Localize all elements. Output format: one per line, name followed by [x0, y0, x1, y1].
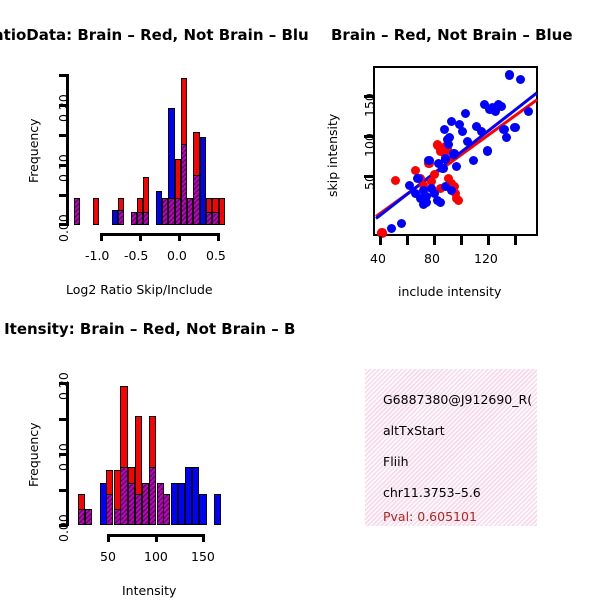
scatter-xtick-40 [379, 236, 382, 245]
hist-ratio-ytick-005 [59, 194, 67, 197]
scatter-point [461, 109, 470, 118]
scatter-point [458, 127, 467, 136]
hist-ratio-ytick-015 [59, 134, 67, 137]
hist-intensity-xlabel-150: 150 [191, 549, 215, 564]
scatter-point [452, 162, 461, 171]
hist-ratio-ytick-top [59, 74, 67, 77]
hist-intensity-title: ne Itensity: Brain – Red, Not Brain – B [0, 320, 295, 338]
hist-bar [192, 467, 199, 526]
annotation-line-gene: Fliih [383, 454, 409, 469]
scatter-plot-area [373, 66, 538, 236]
hist-bar-overlap [149, 467, 156, 526]
scatter-point [505, 70, 514, 79]
scatter-point [449, 149, 458, 158]
hist-bar-overlap [118, 210, 124, 225]
hist-bar-overlap [78, 509, 85, 525]
hist-ratio-xaxis [100, 233, 220, 236]
hist-ratio-ylabel-020: 0.20 [56, 94, 71, 122]
scatter-point [436, 198, 445, 207]
hist-bar [93, 198, 99, 225]
hist-intensity-xtick-150 [202, 534, 205, 542]
hist-bar [219, 198, 225, 225]
hist-ratio-xtick-0.5 [217, 233, 220, 241]
scatter-xaxis-title: include intensity [398, 284, 501, 299]
annotation-textbox: G6887380@J912690_R( altTxStart Fliih chr… [365, 369, 537, 526]
hist-bar-overlap [135, 494, 142, 525]
hist-intensity-ylabel-000: 0.00 [56, 514, 71, 542]
scatter-point [454, 196, 463, 205]
scatter-yaxis-title: skip intensity [325, 114, 340, 197]
hist-intensity-xtick-50 [107, 534, 110, 542]
scatter-point [397, 219, 406, 228]
hist-ratio-xlabel-0.0: 0.0 [167, 248, 187, 263]
scatter-xlabel-80: 80 [424, 251, 440, 266]
hist-ratio-title: RatioData: Brain – Red, Not Brain – Blu [0, 26, 309, 44]
hist-bar [199, 494, 206, 525]
scatter-point [447, 186, 456, 195]
annotation-line-id: G6887380@J912690_R( [383, 392, 532, 407]
hist-bar-overlap [106, 494, 113, 525]
hist-ratio-xtick--1.0 [100, 233, 103, 241]
scatter-xlabel-120: 120 [474, 251, 498, 266]
hist-ratio-xaxis-title: Log2 Ratio Skip/Include [66, 282, 213, 297]
hist-ratio-xtick-0.0 [178, 233, 181, 241]
hist-ratio-ylabel-010: 0.10 [56, 154, 71, 182]
hist-bar-overlap [143, 212, 149, 225]
hist-intensity-ytick-015 [59, 418, 67, 421]
scatter-ylabel-150: 150 [362, 93, 377, 117]
hist-intensity-ylabel-010: 0.10 [56, 443, 71, 471]
scatter-xtick-minor-1 [406, 236, 409, 245]
scatter-point [497, 102, 506, 111]
hist-ratio-yaxis-title: Frequency [26, 118, 41, 183]
scatter-point [510, 123, 519, 132]
hist-bar-overlap [85, 509, 92, 525]
hist-bar-overlap [163, 494, 170, 525]
hist-intensity-ytick-005 [59, 489, 67, 492]
annotation-line-event: altTxStart [383, 423, 445, 438]
hist-bar [178, 483, 185, 525]
scatter-xtick-minor-2 [460, 236, 463, 245]
scatter-point [438, 164, 447, 173]
hist-ratio-xlabel-0.5: 0.5 [206, 248, 226, 263]
scatter-point [391, 176, 400, 185]
scatter-point [483, 146, 492, 155]
hist-ratio-xlabel--1.0: -1.0 [85, 248, 109, 263]
hist-ratio-xtick--0.5 [139, 233, 142, 241]
figure-canvas: RatioData: Brain – Red, Not Brain – Blu … [0, 0, 600, 600]
scatter-xlabel-40: 40 [370, 251, 386, 266]
scatter-point [419, 200, 428, 209]
scatter-ylabel-50: 50 [362, 174, 377, 190]
hist-ratio-xlabel--0.5: -0.5 [124, 248, 148, 263]
hist-bar-overlap [74, 198, 80, 225]
scatter-xtick-120 [487, 236, 490, 245]
scatter-point [502, 133, 511, 142]
hist-intensity-xtick-100 [155, 534, 158, 542]
scatter-point [516, 75, 525, 84]
scatter-point [430, 170, 439, 179]
annotation-line-locus: chr11.3753–5.6 [383, 485, 481, 500]
scatter-point [387, 224, 396, 233]
hist-intensity-xlabel-50: 50 [100, 549, 116, 564]
scatter-title: Brain – Red, Not Brain – Blue [331, 26, 573, 44]
hist-ratio-ylabel-000: 0.00 [56, 214, 71, 242]
scatter-point [469, 156, 478, 165]
scatter-xtick-minor-3 [514, 236, 517, 245]
hist-intensity-xaxis-title: Intensity [122, 583, 176, 598]
annotation-pval: Pval: 0.605101 [383, 509, 477, 524]
scatter-point [524, 107, 533, 116]
hist-bar [214, 494, 221, 525]
scatter-point [413, 174, 422, 183]
hist-intensity-yaxis-title: Frequency [26, 422, 41, 487]
hist-intensity-ylabel-020: 0.20 [56, 372, 71, 400]
scatter-point [445, 133, 454, 142]
scatter-xtick-80 [433, 236, 436, 245]
hist-bar-overlap [120, 467, 127, 526]
hist-intensity-xlabel-100: 100 [144, 549, 168, 564]
scatter-ylabel-100: 100 [362, 133, 377, 157]
